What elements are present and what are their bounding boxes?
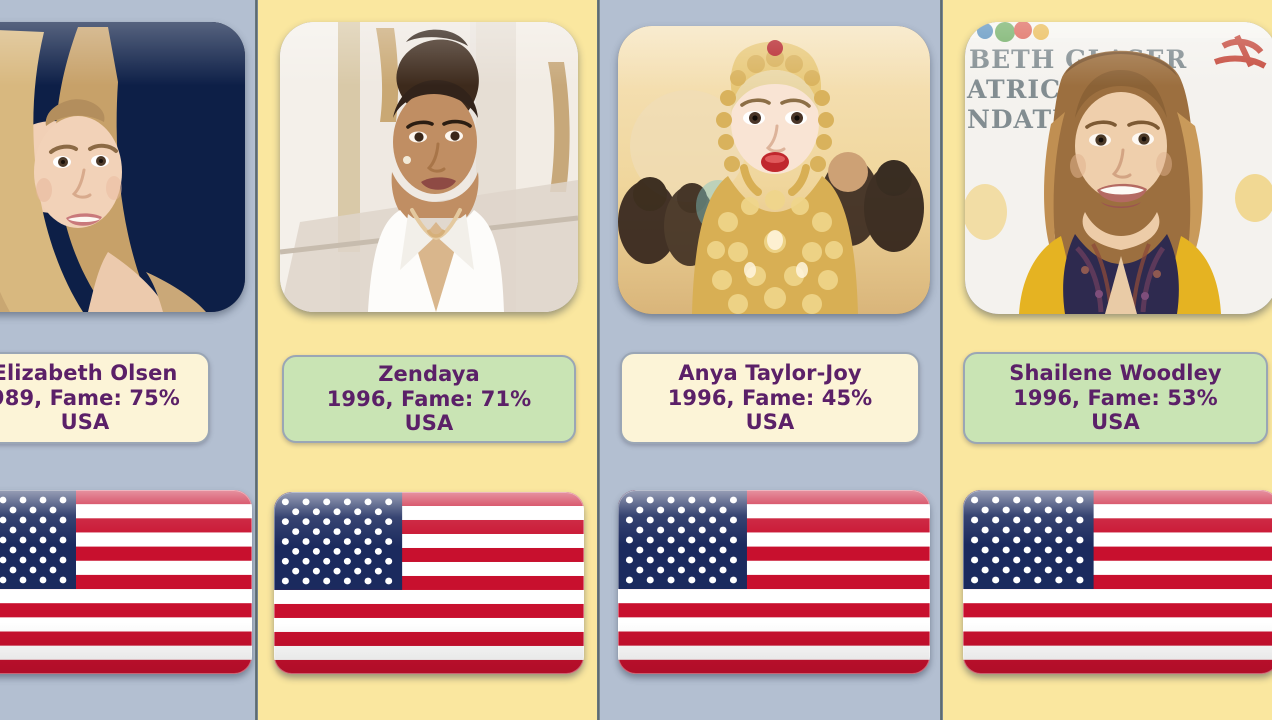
person-name: Zendaya [378,362,480,387]
person-column-shailene-woodley: BETH GLASER ATRIC AI NDATI [943,0,1272,720]
photo-shailene-woodley: BETH GLASER ATRIC AI NDATI [965,22,1272,314]
person-name: Shailene Woodley [1009,361,1221,386]
person-photo-card: BETH GLASER ATRIC AI NDATI [965,22,1272,314]
person-country: USA [1091,410,1140,435]
person-photo-card [0,22,245,312]
photo-elizabeth-olsen [0,22,245,312]
flag-graphic [0,490,252,674]
person-name: Elizabeth Olsen [0,361,177,386]
person-year-fame: 1996, Fame: 53% [1013,386,1218,411]
person-year-fame: 989, Fame: 75% [0,386,180,411]
united-states-flag [0,490,252,674]
photo-anya-taylor-joy [618,26,930,314]
person-year-fame: 1996, Fame: 71% [327,387,532,412]
person-year-fame: 1996, Fame: 45% [668,386,873,411]
column-divider [940,0,943,720]
person-info-card[interactable]: Anya Taylor-Joy 1996, Fame: 45% USA [620,352,920,444]
flag-graphic [274,492,584,674]
person-column-zendaya: Zendaya 1996, Fame: 71% USA [258,0,600,720]
flag-graphic [618,490,930,674]
person-country: USA [405,411,454,436]
united-states-flag [963,490,1272,674]
person-info-card[interactable]: Shailene Woodley 1996, Fame: 53% USA [963,352,1268,444]
united-states-flag [274,492,584,674]
column-divider [255,0,258,720]
person-info-card[interactable]: Elizabeth Olsen 989, Fame: 75% USA [0,352,210,444]
photo-zendaya [280,22,578,312]
person-name: Anya Taylor-Joy [678,361,861,386]
united-states-flag [618,490,930,674]
flag-graphic [963,490,1272,674]
person-photo-card [280,22,578,312]
column-divider [597,0,600,720]
person-country: USA [61,410,110,435]
person-photo-card [618,26,930,314]
person-column-anya-taylor-joy: Anya Taylor-Joy 1996, Fame: 45% USA [600,0,943,720]
person-column-elizabeth-olsen: Elizabeth Olsen 989, Fame: 75% USA [0,0,258,720]
person-info-card[interactable]: Zendaya 1996, Fame: 71% USA [282,355,576,443]
person-country: USA [746,410,795,435]
comparison-board: Elizabeth Olsen 989, Fame: 75% USA [0,0,1272,720]
